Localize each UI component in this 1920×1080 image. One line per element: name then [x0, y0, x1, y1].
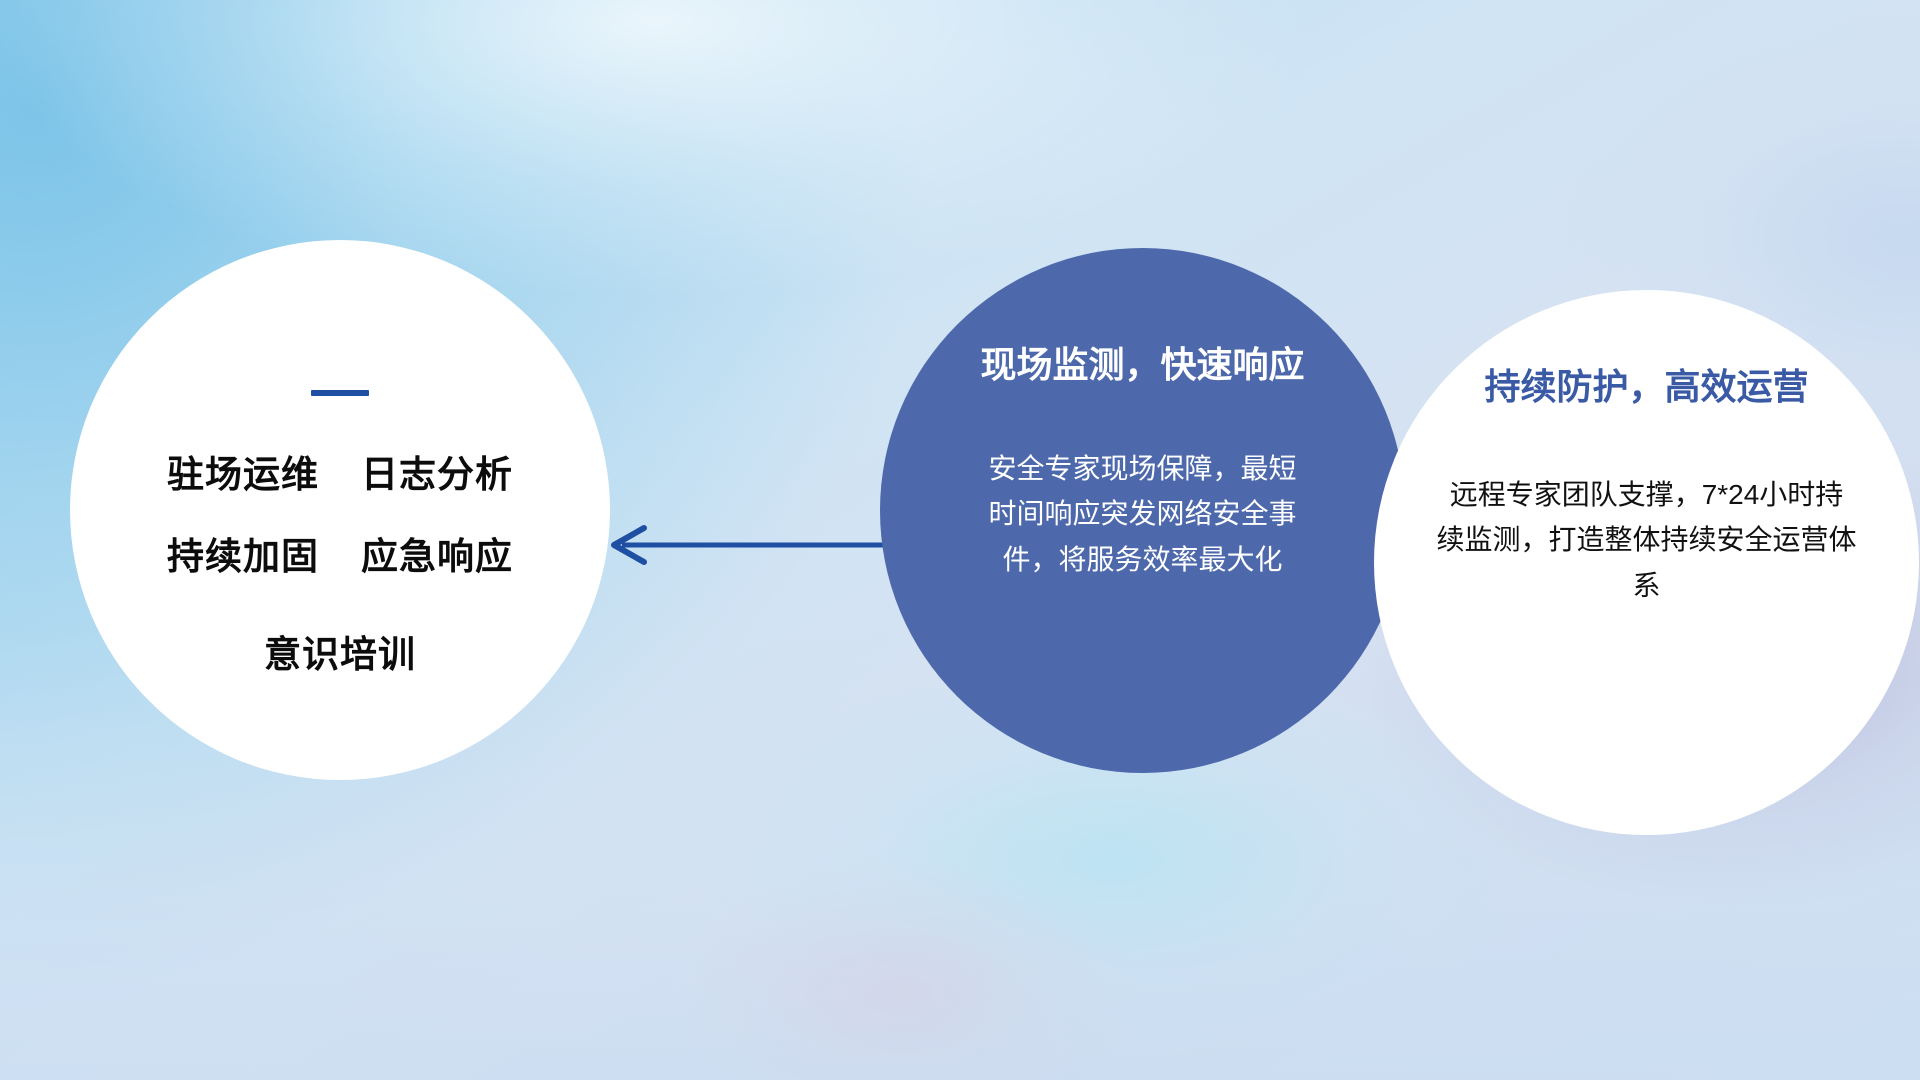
continuous-protection-title: 持续防护，高效运营	[1484, 358, 1808, 410]
service-capabilities-content: 驻场运维 日志分析 持续加固 应急响应 意识培训	[70, 240, 610, 780]
onsite-monitoring-title: 现场监测，快速响应	[980, 336, 1304, 388]
keyword-row-3: 意识培训	[264, 624, 416, 678]
keyword-rizhi-fenxi[interactable]: 日志分析	[361, 444, 513, 498]
slide-canvas: 驻场运维 日志分析 持续加固 应急响应 意识培训 现场监测，快速响应 安全专家现…	[0, 0, 1920, 1080]
keyword-zhuchang-yunwei[interactable]: 驻场运维	[167, 444, 319, 498]
keyword-yishi-peixun[interactable]: 意识培训	[264, 624, 416, 678]
keyword-chixu-jiagu[interactable]: 持续加固	[167, 526, 319, 580]
onsite-monitoring-content: 现场监测，快速响应 安全专家现场保障，最短时间响应突发网络安全事件，将服务效率最…	[880, 248, 1405, 773]
continuous-protection-content: 持续防护，高效运营 远程专家团队支撑，7*24小时持续监测，打造整体持续安全运营…	[1374, 290, 1919, 835]
accent-dash-divider	[311, 390, 369, 396]
continuous-protection-body: 远程专家团队支撑，7*24小时持续监测，打造整体持续安全运营体系	[1437, 472, 1857, 608]
keyword-row-2: 持续加固 应急响应	[167, 526, 513, 580]
left-arrow-connector	[600, 520, 900, 570]
keyword-yingji-xiangying[interactable]: 应急响应	[361, 526, 513, 580]
keyword-row-1: 驻场运维 日志分析	[167, 444, 513, 498]
onsite-monitoring-body: 安全专家现场保障，最短时间响应突发网络安全事件，将服务效率最大化	[978, 446, 1308, 582]
